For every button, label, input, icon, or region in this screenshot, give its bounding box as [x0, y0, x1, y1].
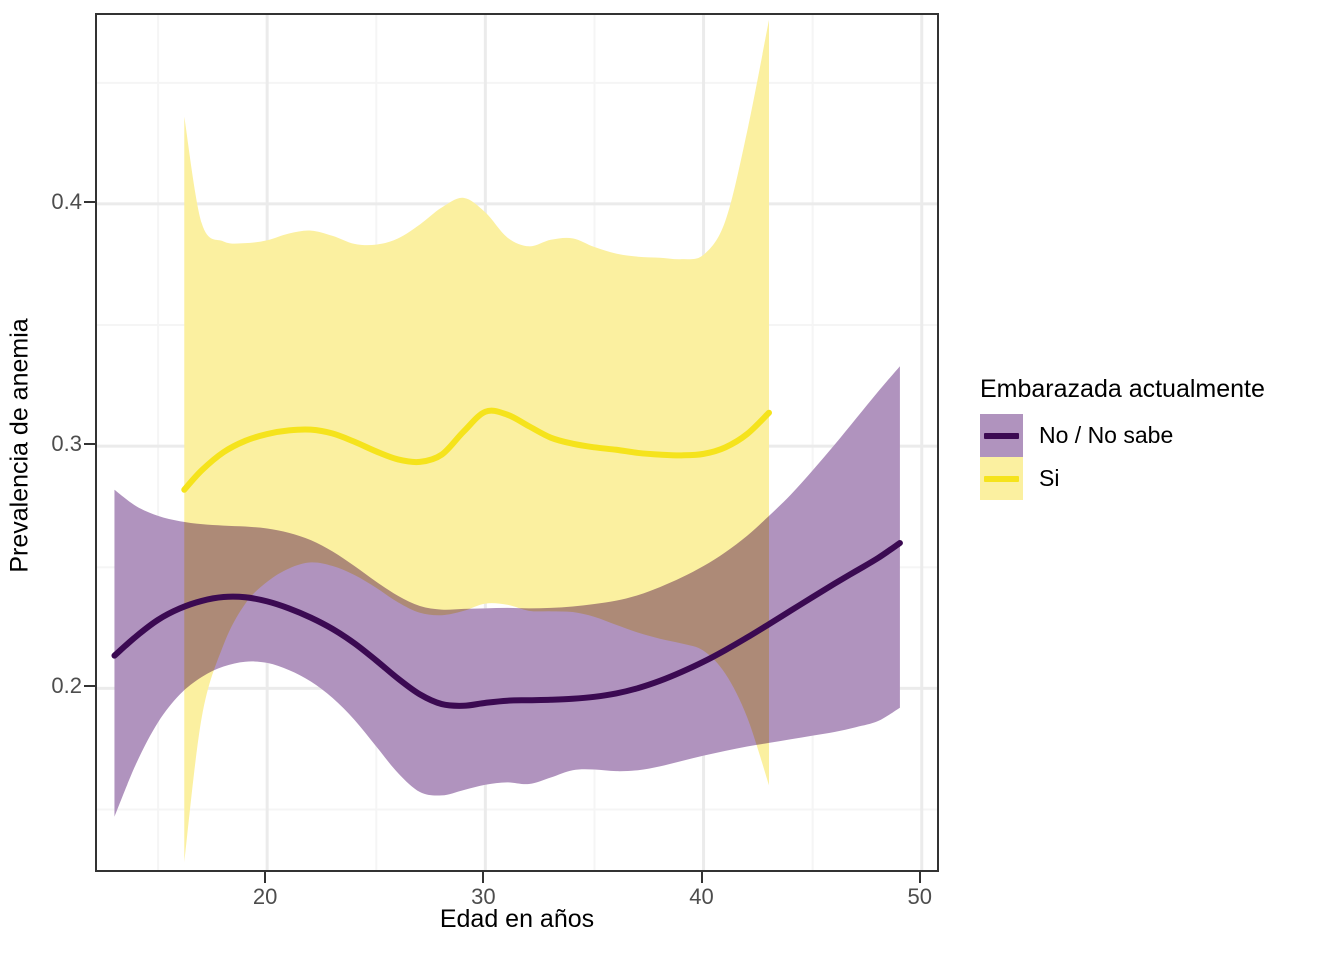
legend-item-1[interactable]: No / No sabe: [980, 414, 1340, 457]
legend: Embarazada actualmente No / No sabeSi: [980, 375, 1340, 500]
legend-key-swatch: [980, 414, 1023, 457]
legend-title: Embarazada actualmente: [980, 375, 1340, 404]
x-axis-title: Edad en años: [95, 905, 939, 934]
legend-item-2[interactable]: Si: [980, 457, 1340, 500]
x-axis-title-label: Edad en años: [440, 905, 594, 933]
chart-figure: Prevalencia de anemia 0.20.30.4 20304050…: [0, 0, 1344, 960]
legend-key-line: [984, 433, 1019, 439]
legend-item-label: Si: [1039, 465, 1059, 492]
legend-key-line: [984, 476, 1019, 482]
legend-item-label: No / No sabe: [1039, 422, 1173, 449]
legend-key-swatch: [980, 457, 1023, 500]
legend-items: No / No sabeSi: [980, 414, 1340, 500]
